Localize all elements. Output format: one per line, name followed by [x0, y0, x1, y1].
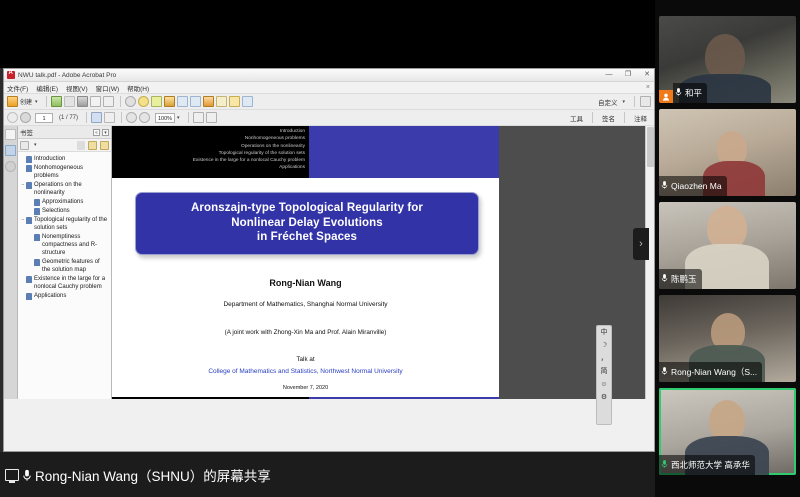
comment-button[interactable]: 注释	[630, 113, 651, 123]
sticky-note-icon[interactable]	[151, 96, 162, 107]
microphone-icon	[661, 180, 668, 190]
window-controls[interactable]: — ❐ ✕	[604, 70, 652, 79]
participant-tile[interactable]: Rong-Nian Wang（S...	[659, 295, 796, 382]
toolbar-separator	[634, 96, 635, 107]
customize-caret-icon[interactable]: ▾	[622, 99, 625, 105]
save-icon[interactable]	[64, 96, 75, 107]
panel-collapse-button[interactable]: ›	[633, 228, 649, 260]
zoom-level-input[interactable]: 100%	[155, 113, 175, 123]
microphone-icon	[675, 87, 682, 97]
host-person-icon	[659, 90, 673, 103]
bookmark-label: Approximations	[42, 198, 83, 206]
participant-name-bar: Rong-Nian Wang（S...	[659, 362, 762, 382]
bookmarks-panel-header: 书签 « ▾	[18, 126, 111, 139]
pdf-viewer[interactable]: IntroductionNonhomogeneous problemsOpera…	[112, 126, 654, 399]
bookmark-item[interactable]: −Operations on the nonlinearity	[20, 181, 109, 197]
slide-body: Aronszajn-type Topological Regularity fo…	[112, 178, 499, 397]
bookmark-item[interactable]: Existence in the large for a nonlocal Ca…	[20, 275, 109, 291]
bookmark-item[interactable]: Nonemptiness compactness and R-structure	[20, 233, 109, 257]
participant-video-strip[interactable]: 和平 Qiaozhen Ma 陈鹏玉 Rong-Nian Wang（S... 西…	[655, 0, 800, 497]
page-thumbnails-icon[interactable]	[5, 129, 16, 140]
screen-share-black-margin	[0, 0, 655, 68]
bookmark-icon	[26, 182, 32, 189]
delete-bookmark-icon[interactable]	[77, 141, 85, 150]
ime-settings-gear-icon[interactable]: ⚙	[601, 393, 607, 403]
tools-button[interactable]: 工具	[566, 113, 587, 123]
next-page-icon[interactable]	[20, 112, 31, 123]
participant-name: 和平	[685, 87, 702, 99]
print-icon[interactable]	[77, 96, 88, 107]
attach-icon[interactable]	[177, 96, 188, 107]
hand-tool-icon[interactable]	[104, 112, 115, 123]
slide-nav-item: Existence in the large for a nonlocal Ca…	[112, 157, 305, 164]
participant-name-bar: Qiaozhen Ma	[659, 176, 727, 196]
panel-menu-button[interactable]: ▾	[102, 129, 109, 136]
participant-name: Qiaozhen Ma	[671, 181, 722, 191]
slide-title-line-1: Aronszajn-type Topological Regularity fo…	[140, 201, 474, 216]
secure-icon[interactable]	[203, 96, 214, 107]
toolbar-right-group: 自定义 ▾	[598, 96, 651, 107]
bookmark-icon	[26, 217, 32, 224]
participant-name-bar: 西北师范大学 高承华	[659, 455, 755, 475]
bookmark-label: Topological regularity of the solution s…	[34, 216, 109, 232]
bookmark-label: Operations on the nonlinearity	[34, 181, 109, 197]
collapse-panel-button[interactable]: «	[93, 129, 100, 136]
attach-file-icon[interactable]	[190, 96, 201, 107]
participant-tile[interactable]: 陈鹏玉	[659, 202, 796, 289]
acrobat-title-bar: NWU talk.pdf - Adobe Acrobat Pro — ❐ ✕	[4, 69, 654, 82]
bookmark-icon	[34, 234, 40, 241]
create-button-label[interactable]: 创建	[20, 97, 32, 106]
page-number-input[interactable]: 1	[35, 113, 53, 123]
bookmark-item[interactable]: Geometric features of the solution map	[20, 258, 109, 274]
bookmark-icon	[34, 259, 40, 266]
page-count-label: (1 / 77)	[59, 115, 78, 121]
bookmark-label: Existence in the large for a nonlocal Ca…	[34, 275, 109, 291]
bookmark-label: Nonhomogeneous problems	[34, 164, 109, 180]
bookmark-icon	[34, 199, 40, 206]
comment-icon[interactable]	[138, 96, 149, 107]
slide-date: November 7, 2020	[112, 385, 499, 391]
settings-icon[interactable]	[125, 96, 136, 107]
bookmarks-toolbar: ▾	[18, 139, 111, 152]
expand-bookmark-icon[interactable]: ▾	[34, 142, 37, 148]
slide-talk-at: Talk at	[112, 356, 499, 363]
edit-icon[interactable]	[229, 96, 240, 107]
participant-name: Rong-Nian Wang（S...	[671, 366, 757, 378]
acrobat-window-title: NWU talk.pdf - Adobe Acrobat Pro	[18, 72, 116, 79]
new-bookmark-icon[interactable]	[88, 141, 97, 150]
slide-footer-title: Aronszajn-type Topological Regularity	[309, 397, 499, 399]
menu-file[interactable]: 文件(F)	[7, 83, 28, 93]
bookmarks-icon[interactable]	[5, 145, 16, 156]
bookmarks-panel-title: 书签	[20, 127, 33, 137]
pdf-page: IntroductionNonhomogeneous problemsOpera…	[112, 126, 499, 399]
slide-nav-item: Introduction	[112, 128, 305, 135]
new-bookmark-icon[interactable]	[100, 141, 109, 150]
microphone-icon	[22, 469, 32, 481]
bookmark-label: Selections	[42, 207, 70, 215]
fit-page-icon[interactable]	[206, 112, 217, 123]
bookmark-icon	[26, 165, 32, 172]
microphone-icon	[661, 456, 668, 474]
zoom-in-icon[interactable]	[139, 112, 150, 123]
toolbar-separator	[188, 112, 189, 123]
acrobat-menu-bar: 文件(F) 编辑(E) 视图(V) 窗口(W) 帮助(H)	[4, 82, 654, 94]
menu-window[interactable]: 窗口(W)	[96, 83, 119, 93]
slide-nav-item: Operations on the nonlinearity	[112, 143, 305, 150]
bookmark-label: Introduction	[34, 155, 65, 163]
slide-header-blue-bar	[309, 126, 499, 178]
acrobat-body: 书签 « ▾ ▾	[4, 126, 654, 399]
microphone-icon	[661, 363, 668, 381]
bookmark-item[interactable]: Applications	[20, 292, 109, 300]
toolbar-separator	[624, 112, 625, 123]
slide-title-line-2: Nonlinear Delay Evolutions	[140, 216, 474, 231]
bookmark-label: Nonemptiness compactness and R-structure	[42, 233, 109, 257]
bookmark-item[interactable]: −Topological regularity of the solution …	[20, 216, 109, 232]
scrollbar-thumb[interactable]	[647, 127, 654, 167]
export-icon[interactable]	[216, 96, 227, 107]
shared-screen-area: NWU talk.pdf - Adobe Acrobat Pro — ❐ ✕ 文…	[0, 0, 655, 452]
bookmark-item[interactable]: Introduction	[20, 155, 109, 163]
toolbar-separator	[120, 96, 121, 107]
bookmark-label: Applications	[34, 292, 66, 300]
menu-help[interactable]: 帮助(H)	[127, 83, 149, 93]
chinese-ime-toolbar[interactable]: 中 ☽ ， 简 ☺ ⚙	[596, 325, 612, 425]
signatures-icon[interactable]	[5, 177, 16, 188]
microphone-icon	[661, 459, 668, 469]
bookmarks-panel: 书签 « ▾ ▾	[18, 126, 112, 399]
microphone-icon	[675, 84, 682, 102]
right-tool-buttons: 工具 签名 注释	[566, 112, 651, 123]
microphone-icon	[661, 366, 668, 376]
minimize-button[interactable]: —	[604, 70, 614, 79]
slide-header: IntroductionNonhomogeneous problemsOpera…	[112, 126, 499, 178]
options-menu-icon[interactable]	[20, 141, 29, 150]
acrobat-logo-icon	[7, 71, 15, 79]
stamp-red-icon[interactable]	[164, 96, 175, 107]
zoom-meeting-window: NWU talk.pdf - Adobe Acrobat Pro — ❐ ✕ 文…	[0, 0, 800, 497]
participant-name-bar: 陈鹏玉	[659, 269, 702, 289]
slide-footer: Rong-Nian Wang Aronszajn-type Topologica…	[112, 397, 499, 399]
ime-emoji-icon[interactable]: ☺	[600, 380, 607, 390]
maximize-button[interactable]: ❐	[623, 70, 633, 79]
viewer-vertical-scrollbar[interactable]	[645, 126, 654, 399]
acrobat-main-toolbar: 创建 ▾ 自定义 ▾	[4, 94, 654, 110]
adobe-acrobat-window: NWU talk.pdf - Adobe Acrobat Pro — ❐ ✕ 文…	[3, 68, 655, 452]
participant-tile[interactable]: 和平	[659, 16, 796, 103]
bookmark-label: Geometric features of the solution map	[42, 258, 109, 274]
bookmark-item[interactable]: Selections	[20, 207, 109, 215]
bookmark-icon	[26, 156, 32, 163]
screen-share-label: Rong-Nian Wang（SHNU）的屏幕共享	[35, 465, 271, 485]
sign-icon[interactable]	[242, 96, 253, 107]
bookmark-item[interactable]: Nonhomogeneous problems	[20, 164, 109, 180]
slide-author: Rong-Nian Wang	[112, 278, 499, 288]
sign-button[interactable]: 签名	[598, 113, 619, 123]
create-caret-icon[interactable]: ▾	[35, 99, 38, 105]
ime-simplified-button[interactable]: 简	[601, 367, 608, 377]
zoom-caret-icon[interactable]: ▾	[177, 115, 180, 121]
select-tool-icon[interactable]	[91, 112, 102, 123]
participant-tile[interactable]: Qiaozhen Ma	[659, 109, 796, 196]
fit-width-icon[interactable]	[193, 112, 204, 123]
slide-nav-item: Applications	[112, 164, 305, 171]
email-icon[interactable]	[103, 96, 114, 107]
slide-joint-work: (A joint work with Zhong-Xin Ma and Prof…	[112, 329, 499, 336]
toolbar-separator	[592, 112, 593, 123]
participant-name: 陈鹏玉	[671, 273, 697, 285]
microphone-icon	[661, 273, 668, 283]
menu-view[interactable]: 视图(V)	[66, 83, 88, 93]
slide-venue: College of Mathematics and Statistics, N…	[112, 368, 499, 375]
acrobat-page-nav-toolbar: 1 (1 / 77) 100% ▾ 工具 签名 注释	[4, 110, 654, 126]
toolbar-separator	[86, 112, 87, 123]
open-file-icon[interactable]	[51, 96, 62, 107]
toolbar-separator	[121, 112, 122, 123]
bookmark-icon	[34, 208, 40, 215]
slide-affiliation: Department of Mathematics, Shanghai Norm…	[112, 301, 499, 308]
toolbar-separator	[46, 96, 47, 107]
expand-panel-icon[interactable]	[640, 96, 651, 107]
slide-footer-author: Rong-Nian Wang	[112, 397, 309, 399]
attachments-icon[interactable]	[5, 161, 16, 172]
customize-toolbar-label[interactable]: 自定义	[598, 97, 618, 107]
microphone-icon	[661, 177, 668, 195]
navigation-rail	[4, 126, 18, 399]
slide-nav-item: Nonhomogeneous problems	[112, 135, 305, 142]
slide-nav-item: Topological regularity of the solution s…	[112, 150, 305, 157]
ime-moon-icon[interactable]: ☽	[601, 341, 607, 351]
previous-page-icon[interactable]	[7, 112, 18, 123]
slide-title-box: Aronszajn-type Topological Regularity fo…	[135, 192, 479, 255]
zoom-out-icon[interactable]	[126, 112, 137, 123]
bookmarks-list[interactable]: IntroductionNonhomogeneous problems−Oper…	[18, 152, 111, 399]
participant-name-bar: 和平	[673, 83, 707, 103]
bookmark-icon	[26, 276, 32, 283]
bookmark-icon	[26, 293, 32, 300]
ime-punctuation-button[interactable]: ，	[601, 354, 608, 364]
edit-pdf-icon[interactable]	[90, 96, 101, 107]
participant-tile[interactable]: 西北师范大学 高承华	[659, 388, 796, 475]
ime-language-mode-button[interactable]: 中	[601, 328, 608, 338]
bookmark-item[interactable]: Approximations	[20, 198, 109, 206]
bookmarks-toolbar-right	[77, 141, 109, 150]
slide-title-line-3: in Fréchet Spaces	[140, 230, 474, 245]
screen-share-icon	[5, 469, 19, 481]
participant-name: 西北师范大学 高承华	[671, 459, 750, 471]
bookmarks-header-buttons[interactable]: « ▾	[93, 129, 109, 136]
close-button[interactable]: ✕	[642, 70, 652, 79]
create-pdf-icon[interactable]	[7, 96, 18, 107]
screen-share-status-bar: Rong-Nian Wang（SHNU）的屏幕共享	[0, 452, 655, 497]
menu-edit[interactable]: 编辑(E)	[36, 83, 58, 93]
slide-section-nav: IntroductionNonhomogeneous problemsOpera…	[112, 126, 309, 178]
microphone-icon	[661, 270, 668, 288]
